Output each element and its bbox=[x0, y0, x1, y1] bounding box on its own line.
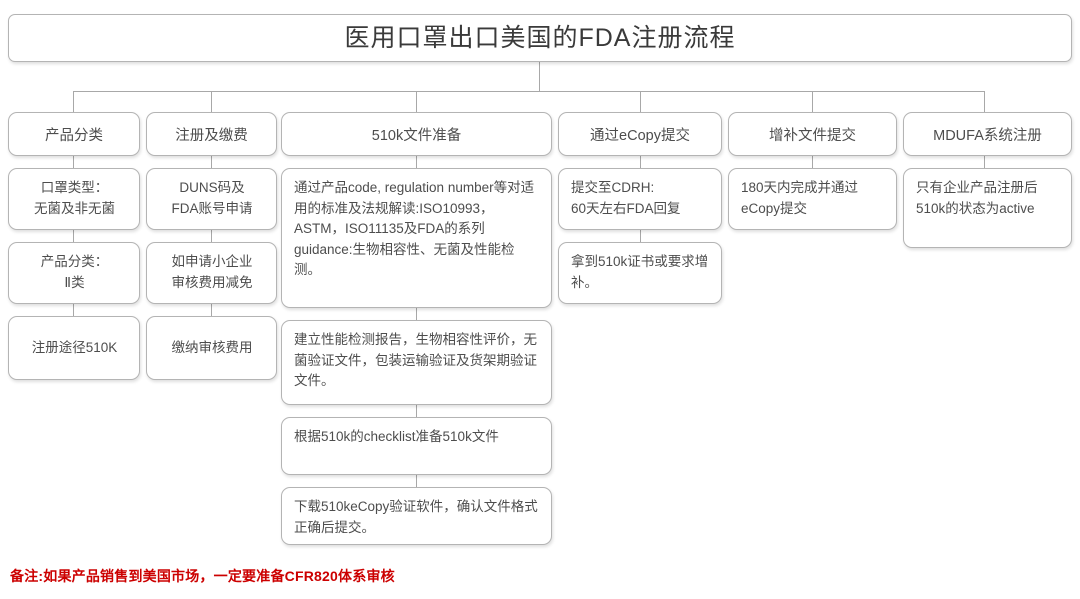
column-header-label: 产品分类 bbox=[45, 124, 103, 145]
node-text: 通过产品code, regulation number等对适用的标准及法规解读:… bbox=[294, 178, 540, 281]
connector-drop-col-6 bbox=[984, 91, 985, 112]
connector-col3-n2-to-n3 bbox=[416, 405, 417, 417]
column-header-product-classification[interactable]: 产品分类 bbox=[8, 112, 140, 156]
node-checklist-prepare[interactable]: 根据510k的checklist准备510k文件 bbox=[281, 417, 552, 475]
node-text: 下载510keCopy验证软件，确认文件格式正确后提交。 bbox=[294, 497, 540, 538]
connector-col3-n1-to-n2 bbox=[416, 308, 417, 320]
connector-col5-h-to-n1 bbox=[812, 156, 813, 168]
node-510k-status-active[interactable]: 只有企业产品注册后510k的状态为active bbox=[903, 168, 1072, 248]
column-header-registration-payment[interactable]: 注册及缴费 bbox=[146, 112, 277, 156]
connector-drop-col-4 bbox=[640, 91, 641, 112]
node-text: 缴纳审核费用 bbox=[159, 338, 265, 359]
column-header-510k-document-prep[interactable]: 510k文件准备 bbox=[281, 112, 552, 156]
column-header-label: 510k文件准备 bbox=[372, 124, 461, 145]
node-duns-fda-account[interactable]: DUNS码及 FDA账号申请 bbox=[146, 168, 277, 230]
node-text: 拿到510k证书或要求增补。 bbox=[571, 252, 710, 293]
node-text: 只有企业产品注册后510k的状态为active bbox=[916, 178, 1060, 219]
connector-col2-n2-to-n3 bbox=[211, 304, 212, 316]
column-header-mdufa-registration[interactable]: MDUFA系统注册 bbox=[903, 112, 1072, 156]
node-text: 口罩类型： 无菌及非无菌 bbox=[21, 178, 128, 219]
connector-drop-col-5 bbox=[812, 91, 813, 112]
column-header-label: 注册及缴费 bbox=[175, 124, 248, 145]
node-text: DUNS码及 FDA账号申请 bbox=[159, 178, 265, 219]
flowchart-canvas: 医用口罩出口美国的FDA注册流程 产品分类 口罩类型： 无菌及非无菌 产品分类：… bbox=[0, 0, 1080, 599]
node-small-business-fee-waiver[interactable]: 如申请小企业 审核费用减免 bbox=[146, 242, 277, 304]
node-180-day-completion[interactable]: 180天内完成并通过eCopy提交 bbox=[728, 168, 897, 230]
node-text: 根据510k的checklist准备510k文件 bbox=[294, 427, 499, 448]
column-header-label: 增补文件提交 bbox=[769, 124, 856, 145]
connector-col4-h-to-n1 bbox=[640, 156, 641, 168]
connector-col3-n3-to-n4 bbox=[416, 475, 417, 487]
node-ecopy-validation-software[interactable]: 下载510keCopy验证软件，确认文件格式正确后提交。 bbox=[281, 487, 552, 545]
column-header-submit-via-ecopy[interactable]: 通过eCopy提交 bbox=[558, 112, 722, 156]
node-text: 提交至CDRH: 60天左右FDA回复 bbox=[571, 178, 681, 219]
chart-title-box: 医用口罩出口美国的FDA注册流程 bbox=[8, 14, 1072, 62]
connector-drop-col-2 bbox=[211, 91, 212, 112]
node-text: 注册途径510K bbox=[21, 338, 128, 359]
connector-drop-col-1 bbox=[73, 91, 74, 112]
node-text: 产品分类： Ⅱ类 bbox=[21, 252, 128, 293]
column-header-supplemental-docs[interactable]: 增补文件提交 bbox=[728, 112, 897, 156]
node-mask-type[interactable]: 口罩类型： 无菌及非无菌 bbox=[8, 168, 140, 230]
connector-col2-h-to-n1 bbox=[211, 156, 212, 168]
connector-col1-n1-to-n2 bbox=[73, 230, 74, 242]
column-header-label: 通过eCopy提交 bbox=[590, 124, 690, 145]
node-text: 180天内完成并通过eCopy提交 bbox=[741, 178, 885, 219]
connector-distribution-bar bbox=[73, 91, 985, 92]
connector-col6-h-to-n1 bbox=[984, 156, 985, 168]
node-pay-review-fee[interactable]: 缴纳审核费用 bbox=[146, 316, 277, 380]
connector-col4-n1-to-n2 bbox=[640, 230, 641, 242]
node-text: 如申请小企业 审核费用减免 bbox=[159, 252, 265, 293]
connector-col2-n1-to-n2 bbox=[211, 230, 212, 242]
column-header-label: MDUFA系统注册 bbox=[933, 124, 1042, 145]
chart-title-text: 医用口罩出口美国的FDA注册流程 bbox=[344, 26, 735, 51]
node-submit-to-cdrh[interactable]: 提交至CDRH: 60天左右FDA回复 bbox=[558, 168, 722, 230]
node-standards-interpretation[interactable]: 通过产品code, regulation number等对适用的标准及法规解读:… bbox=[281, 168, 552, 308]
node-test-reports[interactable]: 建立性能检测报告，生物相容性评价，无菌验证文件，包装运输验证及货架期验证文件。 bbox=[281, 320, 552, 405]
connector-col3-h-to-n1 bbox=[416, 156, 417, 168]
node-text: 建立性能检测报告，生物相容性评价，无菌验证文件，包装运输验证及货架期验证文件。 bbox=[294, 330, 540, 392]
node-receive-510k-certificate[interactable]: 拿到510k证书或要求增补。 bbox=[558, 242, 722, 304]
connector-col1-n2-to-n3 bbox=[73, 304, 74, 316]
node-product-class[interactable]: 产品分类： Ⅱ类 bbox=[8, 242, 140, 304]
connector-col1-h-to-n1 bbox=[73, 156, 74, 168]
node-registration-path[interactable]: 注册途径510K bbox=[8, 316, 140, 380]
connector-title-trunk bbox=[539, 62, 540, 91]
connector-drop-col-3 bbox=[416, 91, 417, 112]
footer-note: 备注:如果产品销售到美国市场，一定要准备CFR820体系审核 bbox=[10, 566, 395, 586]
